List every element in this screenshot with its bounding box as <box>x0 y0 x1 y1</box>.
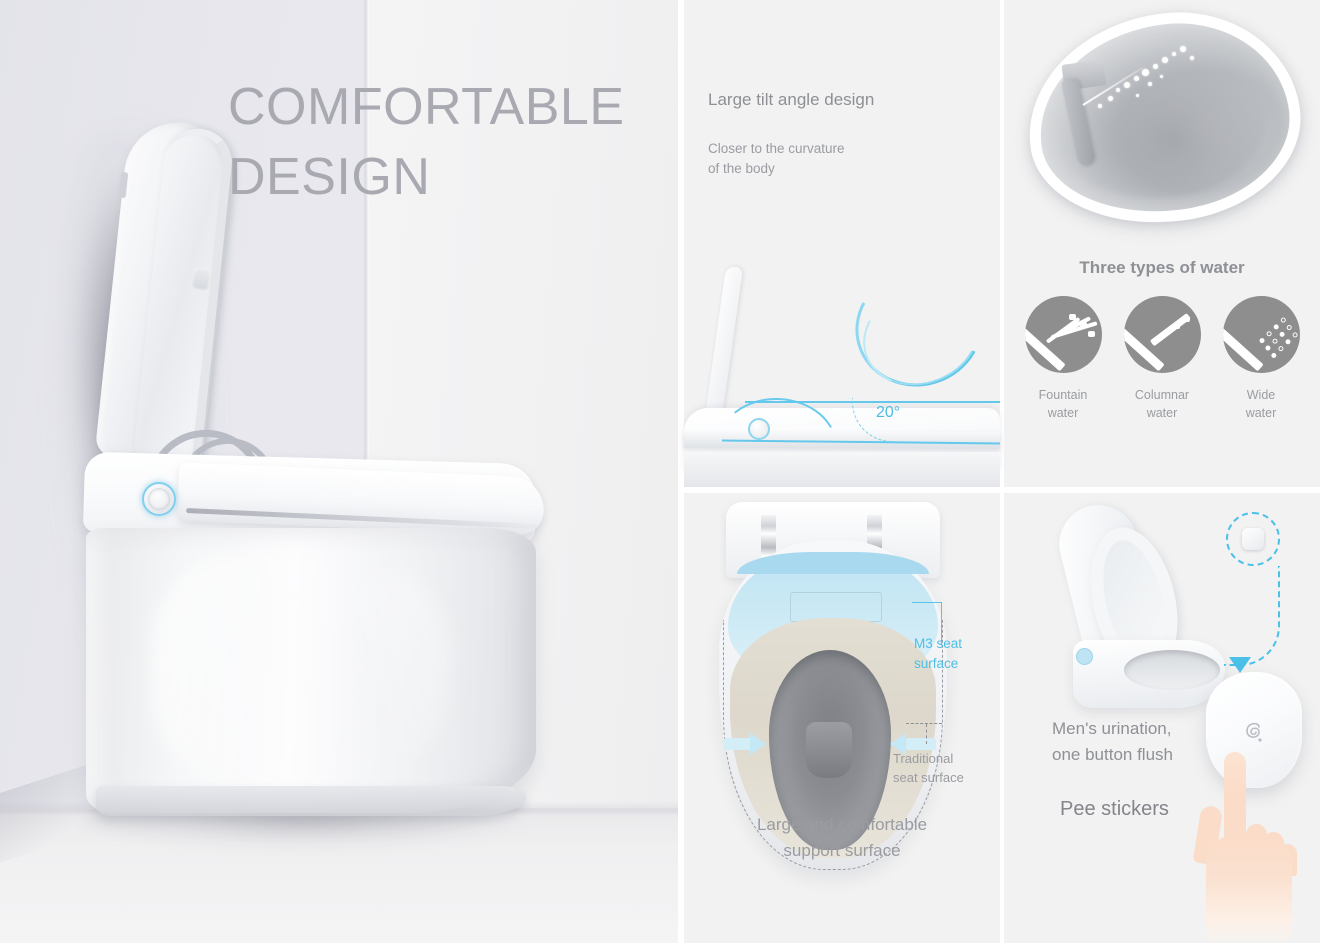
wide-water-label: Wide water <box>1223 386 1300 422</box>
control-knob <box>148 488 170 510</box>
water-type-fountain[interactable]: Fountain water <box>1025 296 1102 422</box>
tilt-angle-label: 20° <box>876 404 900 422</box>
hero-panel: COMFORTABLE DESIGN <box>0 0 678 943</box>
water-type-columnar[interactable]: Columnar water <box>1124 296 1201 422</box>
fountain-spray-icon <box>1025 296 1102 373</box>
pee-secondary-text: Pee stickers <box>1060 798 1169 821</box>
sticker-callout-arrow-head <box>1229 657 1251 673</box>
support-surface-caption: Large and comfortable support surface <box>684 812 1000 863</box>
wide-spray-icon <box>1223 296 1300 373</box>
seat-arrow-left <box>750 733 766 755</box>
traditional-leader-horizontal <box>906 723 942 724</box>
water-type-wide[interactable]: Wide water <box>1223 296 1300 422</box>
body-highlight-2 <box>330 570 450 770</box>
tilt-heading: Large tilt angle design <box>708 90 874 110</box>
columnar-water-label: Columnar water <box>1124 386 1201 422</box>
pee-control-knob <box>1076 648 1093 665</box>
toilet-base <box>96 786 526 816</box>
sticker-on-toilet <box>1242 528 1264 550</box>
traditional-seat-label: Traditional seat surface <box>893 750 964 788</box>
seat-arrow-bar-right <box>906 738 936 750</box>
pointing-hand-illustration <box>1188 752 1308 943</box>
page-title: COMFORTABLE DESIGN <box>228 72 658 212</box>
tilt-subtext: Closer to the curvature of the body <box>708 139 845 180</box>
spiral-flush-icon <box>1238 718 1268 748</box>
pee-toilet-bowl <box>1124 650 1220 690</box>
pee-primary-text: Men's urination, one button flush <box>1052 716 1173 767</box>
fountain-water-label: Fountain water <box>1025 386 1102 422</box>
columnar-spray-icon <box>1124 296 1201 373</box>
m3-seat-label: M3 seat surface <box>914 634 962 673</box>
body-highlight <box>150 556 320 786</box>
product-feature-poster: COMFORTABLE DESIGN 20° Large tilt angle … <box>0 0 1333 943</box>
water-types-list: Fountain water Columnar water <box>1004 296 1320 422</box>
traditional-leader-vertical <box>926 724 927 744</box>
water-types-heading: Three types of water <box>1004 258 1320 278</box>
water-droplets <box>1090 42 1220 122</box>
tilt-toilet-body <box>684 452 1000 487</box>
